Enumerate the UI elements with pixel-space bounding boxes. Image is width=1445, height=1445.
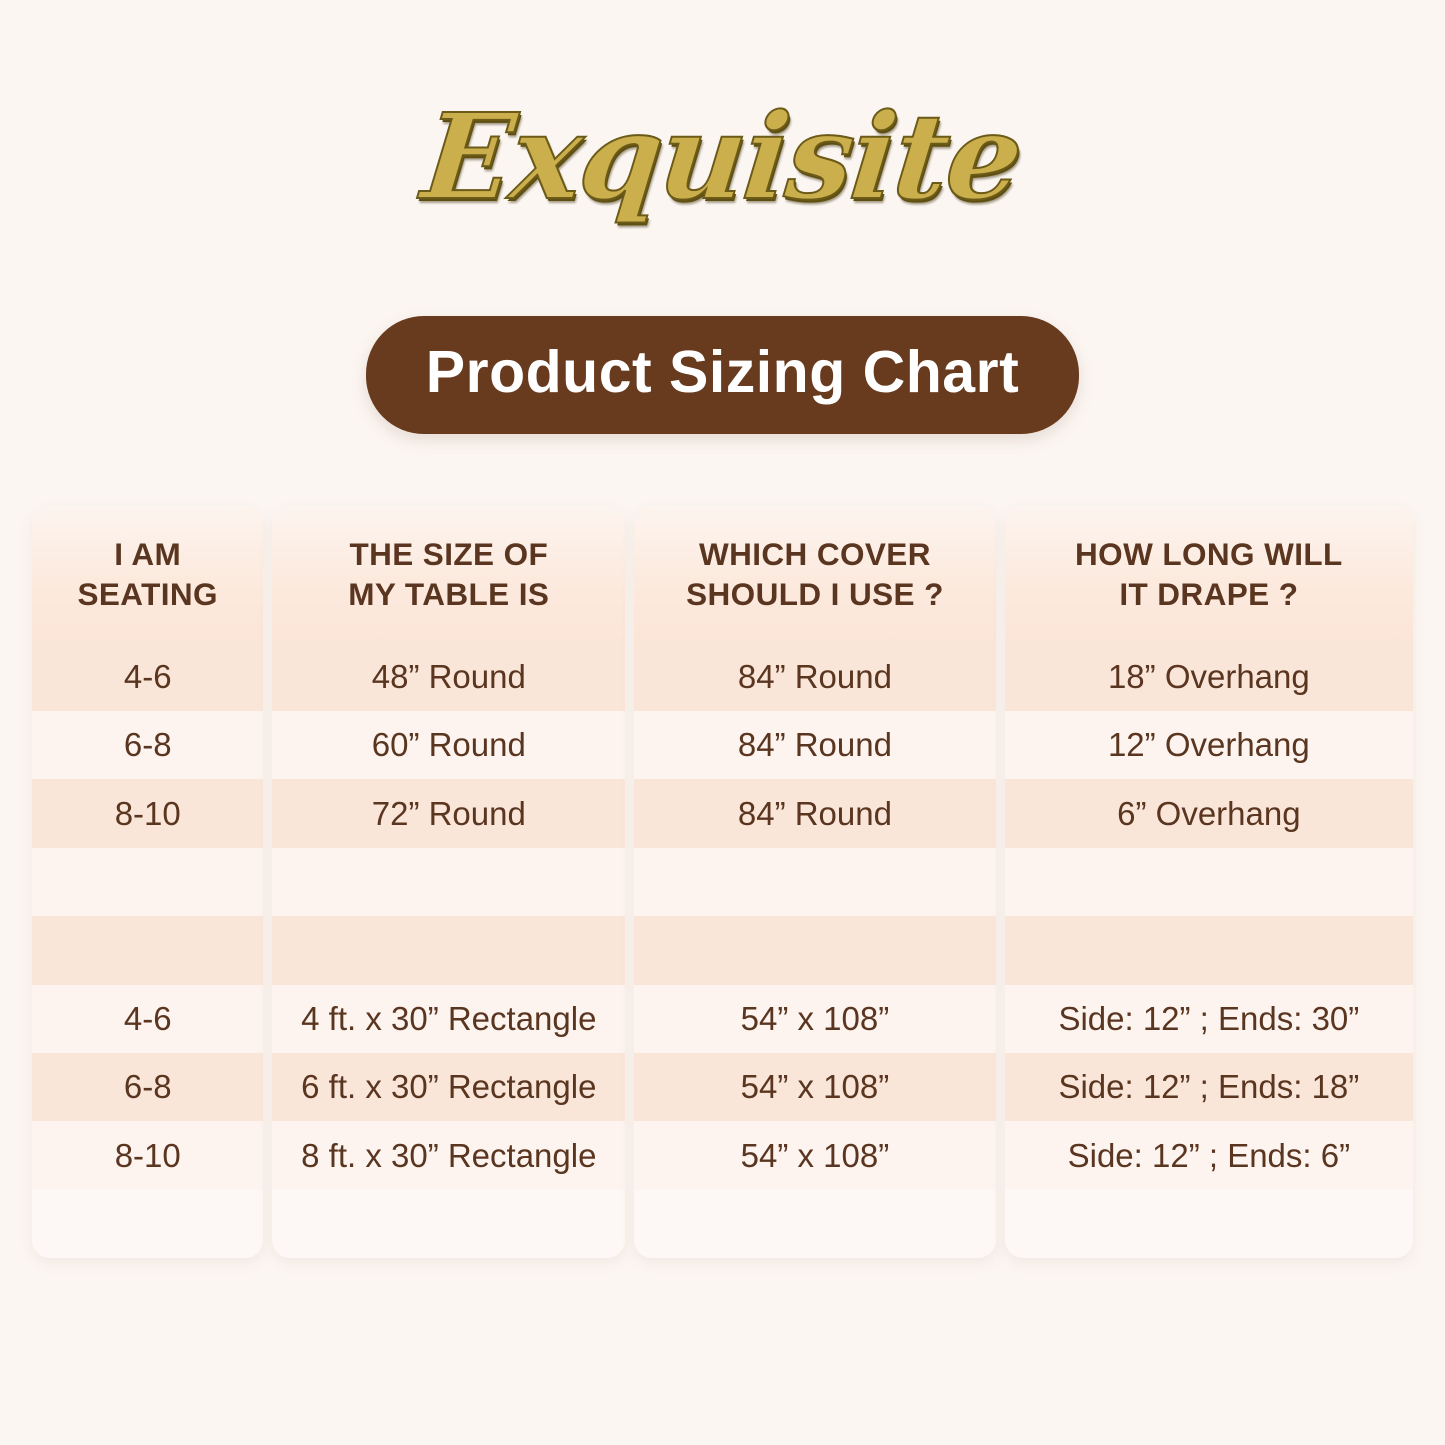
column-header-line: MY TABLE IS xyxy=(348,576,549,612)
table-column-drape-length: HOW LONG WILLIT DRAPE ? 18” Overhang 12”… xyxy=(1005,506,1413,1258)
table-column-table-size: THE SIZE OFMY TABLE IS 48” Round 60” Rou… xyxy=(272,506,625,1258)
table-cell: Side: 12” ; Ends: 18” xyxy=(1005,1053,1413,1121)
table-cell: Side: 12” ; Ends: 30” xyxy=(1005,985,1413,1053)
column-header: WHICH COVERSHOULD I USE ? xyxy=(634,506,996,643)
column-header-line: THE SIZE OF xyxy=(349,536,548,572)
table-column-seating: I AMSEATING 4-6 6-8 8-10 4-6 6-8 8-10 xyxy=(32,506,263,1258)
title-banner: Product Sizing Chart xyxy=(0,316,1445,434)
table-cell-spacer xyxy=(1005,848,1413,916)
brand-header: Exquisite xyxy=(0,62,1445,252)
page-title: Product Sizing Chart xyxy=(366,316,1079,434)
sizing-chart-table: I AMSEATING 4-6 6-8 8-10 4-6 6-8 8-10 TH… xyxy=(32,506,1413,1258)
table-column-footer xyxy=(1005,1190,1413,1258)
table-cell-spacer xyxy=(1005,916,1413,984)
table-cell-spacer xyxy=(272,916,625,984)
column-header-line: SEATING xyxy=(77,576,217,612)
column-header-line: IT DRAPE ? xyxy=(1119,576,1298,612)
column-header: THE SIZE OFMY TABLE IS xyxy=(272,506,625,643)
table-column-footer xyxy=(32,1190,263,1258)
table-cell: 6 ft. x 30” Rectangle xyxy=(272,1053,625,1121)
table-cell: 6” Overhang xyxy=(1005,779,1413,847)
brand-logo: Exquisite xyxy=(414,62,1030,252)
table-cell: 12” Overhang xyxy=(1005,711,1413,779)
column-header-line: HOW LONG WILL xyxy=(1075,536,1343,572)
column-header: HOW LONG WILLIT DRAPE ? xyxy=(1005,506,1413,643)
table-cell: 84” Round xyxy=(634,643,996,711)
table-cell: 6-8 xyxy=(32,1053,263,1121)
table-cell: 60” Round xyxy=(272,711,625,779)
table-cell: 54” x 108” xyxy=(634,1053,996,1121)
column-header: I AMSEATING xyxy=(32,506,263,643)
table-column-footer xyxy=(272,1190,625,1258)
table-cell-spacer xyxy=(634,848,996,916)
table-cell: 4 ft. x 30” Rectangle xyxy=(272,985,625,1053)
table-cell: 8 ft. x 30” Rectangle xyxy=(272,1121,625,1189)
table-cell-spacer xyxy=(634,916,996,984)
table-cell: 18” Overhang xyxy=(1005,643,1413,711)
table-cell-spacer xyxy=(32,848,263,916)
table-cell: 4-6 xyxy=(32,643,263,711)
column-header-line: SHOULD I USE ? xyxy=(686,576,944,612)
table-cell: 54” x 108” xyxy=(634,985,996,1053)
table-cell: 6-8 xyxy=(32,711,263,779)
table-column-cover-size: WHICH COVERSHOULD I USE ? 84” Round 84” … xyxy=(634,506,996,1258)
table-cell-spacer xyxy=(272,848,625,916)
table-cell: 8-10 xyxy=(32,1121,263,1189)
table-cell: 54” x 108” xyxy=(634,1121,996,1189)
table-cell: 84” Round xyxy=(634,779,996,847)
table-cell: 84” Round xyxy=(634,711,996,779)
table-cell: 48” Round xyxy=(272,643,625,711)
column-header-line: WHICH COVER xyxy=(699,536,931,572)
table-cell: 4-6 xyxy=(32,985,263,1053)
table-column-footer xyxy=(634,1190,996,1258)
table-cell: Side: 12” ; Ends: 6” xyxy=(1005,1121,1413,1189)
column-header-line: I AM xyxy=(114,536,181,572)
table-cell: 8-10 xyxy=(32,779,263,847)
table-cell: 72” Round xyxy=(272,779,625,847)
table-cell-spacer xyxy=(32,916,263,984)
